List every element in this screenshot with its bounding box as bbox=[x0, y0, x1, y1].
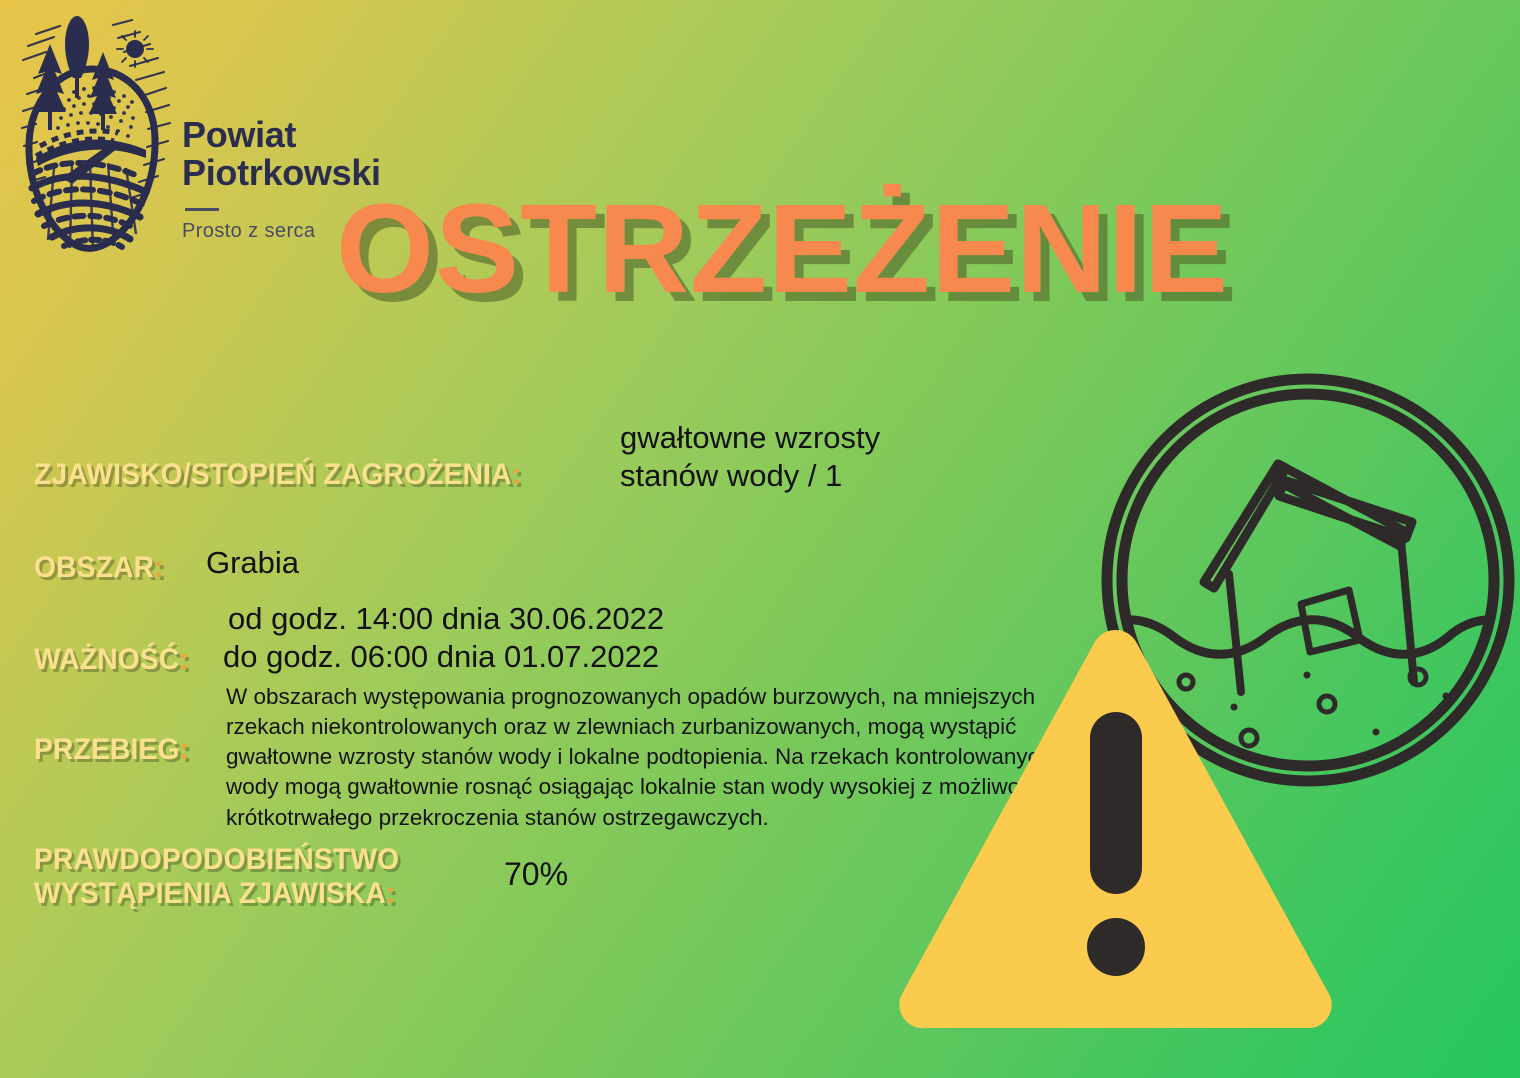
label-course: PRZEBIEG: bbox=[34, 733, 189, 767]
label-phenomenon-text: ZJAWISKO/STOPIEŃ ZAGROŻENIA bbox=[34, 458, 512, 491]
value-validity-from: od godz. 14:00 dnia 30.06.2022 bbox=[228, 601, 664, 636]
value-phenomenon-line2: stanów wody / 1 bbox=[620, 458, 842, 493]
label-probability-line1: PRAWDOPODOBIEŃSTWO bbox=[34, 843, 399, 876]
label-area-text: OBSZAR bbox=[34, 551, 154, 584]
value-probability: 70% bbox=[504, 855, 568, 894]
label-colon: : bbox=[512, 458, 522, 491]
label-probability-line2: WYSTĄPIENIA ZJAWISKA bbox=[34, 877, 386, 910]
label-area: OBSZAR: bbox=[34, 551, 164, 585]
label-colon: : bbox=[154, 551, 164, 584]
label-validity-text: WAŻNOŚĆ bbox=[34, 643, 179, 676]
warning-poster: Powiat Piotrkowski Prosto z serca OSTRZE… bbox=[0, 0, 1520, 1078]
powiat-piotrkowski-emblem-icon bbox=[14, 8, 174, 263]
page-title: OSTRZEŻENIE bbox=[336, 186, 1229, 312]
label-probability: PRAWDOPODOBIEŃSTWOWYSTĄPIENIA ZJAWISKA: bbox=[34, 843, 399, 910]
logo-divider bbox=[185, 208, 219, 211]
value-validity: od godz. 14:00 dnia 30.06.2022 do godz. … bbox=[228, 600, 664, 676]
value-phenomenon: gwałtowne wzrosty stanów wody / 1 bbox=[620, 419, 880, 495]
logo-name-line1: Powiat bbox=[182, 116, 397, 154]
value-area: Grabia bbox=[206, 544, 299, 582]
value-validity-to: do godz. 06:00 dnia 01.07.2022 bbox=[223, 638, 664, 676]
label-colon: : bbox=[180, 733, 190, 766]
label-validity: WAŻNOŚĆ: bbox=[34, 643, 189, 677]
label-phenomenon: ZJAWISKO/STOPIEŃ ZAGROŻENIA: bbox=[34, 458, 521, 492]
warning-triangle-exclamation-icon bbox=[893, 624, 1338, 1034]
value-phenomenon-line1: gwałtowne wzrosty bbox=[620, 420, 880, 455]
label-colon: : bbox=[179, 643, 189, 676]
label-colon: : bbox=[386, 877, 396, 910]
label-course-text: PRZEBIEG bbox=[34, 733, 180, 766]
